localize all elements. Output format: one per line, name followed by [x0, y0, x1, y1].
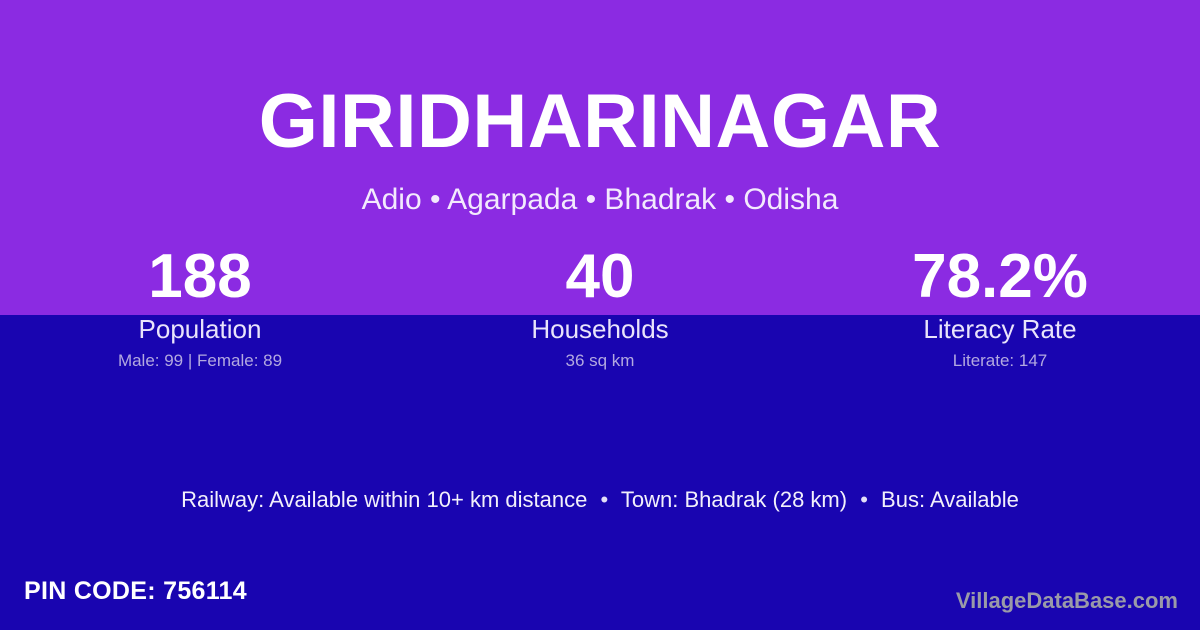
stat-households-sub: 36 sq km — [400, 350, 800, 372]
stat-households-value: 40 — [400, 244, 800, 310]
amenity-separator-1: • — [593, 487, 615, 512]
amenity-railway: Railway: Available within 10+ km distanc… — [181, 487, 587, 512]
stats-row: 188 Population Male: 99 | Female: 89 40 … — [0, 244, 1200, 372]
stat-households: 40 Households 36 sq km — [400, 244, 800, 372]
amenity-separator-2: • — [853, 487, 875, 512]
stat-population: 188 Population Male: 99 | Female: 89 — [0, 244, 400, 372]
page-title: GIRIDHARINAGAR — [0, 84, 1200, 160]
amenity-bus: Bus: Available — [881, 487, 1019, 512]
stat-households-label: Households — [400, 314, 800, 346]
stat-population-sub: Male: 99 | Female: 89 — [0, 350, 400, 372]
stat-literacy-rate-sub: Literate: 147 — [800, 350, 1200, 372]
stat-literacy-rate-value: 78.2% — [800, 244, 1200, 310]
village-info-card: GIRIDHARINAGAR Adio • Agarpada • Bhadrak… — [0, 0, 1200, 630]
stat-population-value: 188 — [0, 244, 400, 310]
stat-population-label: Population — [0, 314, 400, 346]
pin-code: PIN CODE: 756114 — [24, 576, 247, 606]
stat-literacy-rate: 78.2% Literacy Rate Literate: 147 — [800, 244, 1200, 372]
amenity-town: Town: Bhadrak (28 km) — [621, 487, 847, 512]
stat-literacy-rate-label: Literacy Rate — [800, 314, 1200, 346]
amenities-line: Railway: Available within 10+ km distanc… — [0, 485, 1200, 515]
breadcrumb: Adio • Agarpada • Bhadrak • Odisha — [0, 182, 1200, 218]
site-brand: VillageDataBase.com — [956, 588, 1178, 614]
